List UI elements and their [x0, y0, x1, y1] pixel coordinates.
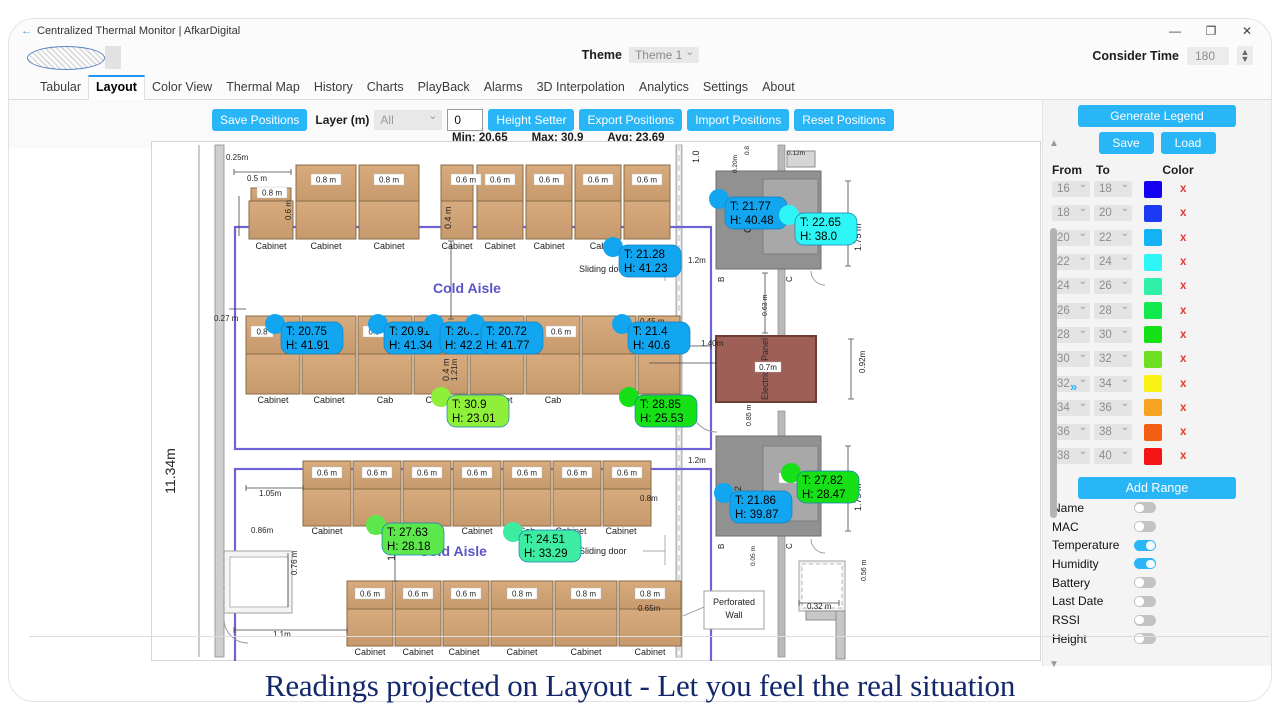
sensor-humidity: H: 39.87: [735, 509, 778, 521]
cold-aisle-label-top: Cold Aisle: [433, 280, 501, 296]
range-remove-button[interactable]: x: [1180, 329, 1186, 341]
close-button[interactable]: ✕: [1229, 19, 1265, 43]
range-color-swatch[interactable]: [1144, 351, 1162, 368]
layer-select[interactable]: All: [374, 110, 442, 130]
svg-text:1.40m: 1.40m: [701, 339, 724, 348]
field-toggle-label: Temperature: [1052, 538, 1134, 552]
sensor-temperature: T: 27.82: [802, 475, 843, 487]
range-to-select[interactable]: 26: [1094, 278, 1132, 294]
legend-range-row: 3032x: [1043, 347, 1271, 371]
range-color-swatch[interactable]: [1144, 278, 1162, 295]
sensor-temperature: T: 20.75: [286, 326, 327, 338]
range-remove-button[interactable]: x: [1180, 232, 1186, 244]
range-to-select[interactable]: 34: [1094, 376, 1132, 392]
range-to-select[interactable]: 24: [1094, 254, 1132, 270]
svg-text:Cabinet: Cabinet: [354, 647, 386, 657]
sensor-humidity: H: 33.29: [524, 548, 567, 560]
legend-range-row: 3436x: [1043, 396, 1271, 420]
theme-select[interactable]: Theme 1: [629, 47, 698, 63]
field-toggle-row: MAC: [1043, 517, 1271, 536]
generate-legend-button[interactable]: Generate Legend: [1078, 105, 1236, 127]
sensor-humidity: H: 41.91: [286, 340, 329, 352]
svg-text:Cabinet: Cabinet: [461, 526, 493, 536]
svg-text:0.25m: 0.25m: [226, 153, 249, 162]
svg-text:0.65m: 0.65m: [638, 604, 661, 613]
svg-text:Wall: Wall: [725, 610, 742, 620]
svg-text:0.6 m: 0.6 m: [317, 469, 337, 478]
legend-range-row: 2022x: [1043, 226, 1271, 250]
logo-placeholder-box: [105, 46, 121, 69]
range-remove-button[interactable]: x: [1180, 353, 1186, 365]
caption-text: Readings projected on Layout - Let you f…: [0, 668, 1280, 704]
legend-range-row: 2628x: [1043, 298, 1271, 322]
sensor-temperature: T: 21.4: [633, 326, 668, 338]
header-from: From: [1052, 163, 1096, 177]
range-color-swatch[interactable]: [1144, 302, 1162, 319]
svg-text:Cabinet: Cabinet: [506, 647, 538, 657]
field-toggle-label: RSSI: [1052, 613, 1134, 627]
svg-text:Cabinet: Cabinet: [311, 526, 343, 536]
consider-time-input[interactable]: 180: [1187, 47, 1229, 65]
consider-time-label: Consider Time: [1092, 49, 1179, 63]
svg-text:Cabinet: Cabinet: [533, 241, 565, 251]
sensor-humidity: H: 40.6: [633, 340, 670, 352]
legend-range-row: 3840x: [1043, 444, 1271, 468]
range-color-swatch[interactable]: [1144, 326, 1162, 343]
field-toggle-row: Humidity: [1043, 555, 1271, 574]
legend-range-row: 1820x: [1043, 201, 1271, 225]
svg-text:0.6 m: 0.6 m: [517, 469, 537, 478]
caption-divider: [29, 636, 1269, 637]
svg-text:Cab: Cab: [377, 395, 394, 405]
tab-tabular[interactable]: Tabular: [33, 77, 88, 99]
sensor-humidity: H: 42.2: [445, 340, 482, 352]
legend-load-button[interactable]: Load: [1161, 132, 1216, 154]
brand-bar: Theme Theme 1 Consider Time 180 ▲▼: [9, 43, 1271, 73]
svg-text:Cabinet: Cabinet: [313, 395, 345, 405]
field-toggle-switch[interactable]: [1134, 558, 1156, 569]
tab-about[interactable]: About: [755, 77, 802, 99]
range-color-swatch[interactable]: [1144, 448, 1162, 465]
svg-text:Cabinet: Cabinet: [605, 526, 637, 536]
sensor-humidity: H: 28.18: [387, 541, 430, 553]
sensor-humidity: H: 28.47: [802, 489, 845, 501]
tab-thermal-map[interactable]: Thermal Map: [219, 77, 307, 99]
legend-range-row: 3638x: [1043, 420, 1271, 444]
range-remove-button[interactable]: x: [1180, 378, 1186, 390]
field-toggle-row: Last Date: [1043, 592, 1271, 611]
field-toggle-label: MAC: [1052, 520, 1134, 534]
tab-history[interactable]: History: [307, 77, 360, 99]
consider-time-control: Consider Time 180 ▲▼: [1092, 46, 1253, 65]
minimize-button[interactable]: —: [1157, 19, 1193, 43]
svg-text:0.8 m: 0.8 m: [316, 176, 336, 185]
range-to-select[interactable]: 32: [1094, 351, 1132, 367]
field-toggle-switch[interactable]: [1134, 502, 1156, 513]
tab-layout[interactable]: Layout: [88, 75, 145, 100]
sensor-humidity: H: 25.53: [640, 413, 683, 425]
svg-text:0.6 m: 0.6 m: [360, 590, 380, 599]
svg-text:0.6 m: 0.6 m: [617, 469, 637, 478]
svg-text:0.12m: 0.12m: [787, 150, 805, 157]
height-setter-button[interactable]: Height Setter: [488, 109, 574, 131]
range-remove-button[interactable]: x: [1180, 207, 1186, 219]
canvas-vertical-scrollbar[interactable]: ▲ ▼: [1049, 144, 1058, 662]
svg-text:0.6 m: 0.6 m: [539, 176, 559, 185]
add-range-button[interactable]: Add Range: [1078, 477, 1236, 499]
svg-text:0.85 m: 0.85 m: [746, 404, 753, 426]
sensor-temperature: T: 22.65: [800, 217, 841, 229]
window-controls: — ❐ ✕: [1157, 19, 1265, 43]
range-color-swatch[interactable]: [1144, 181, 1162, 198]
range-to-select[interactable]: 30: [1094, 327, 1132, 343]
svg-text:Cabinet: Cabinet: [441, 241, 473, 251]
sensor-humidity: H: 23.01: [452, 413, 495, 425]
field-toggle-row: Name: [1043, 499, 1271, 518]
sensor-temperature: T: 20.91: [389, 326, 430, 338]
field-toggle-switch[interactable]: [1134, 540, 1156, 551]
svg-text:1.0: 1.0: [691, 150, 701, 163]
svg-text:0.63 m: 0.63 m: [762, 294, 769, 316]
svg-text:C: C: [785, 543, 794, 549]
app-logo: [27, 46, 105, 70]
tab-analytics[interactable]: Analytics: [632, 77, 696, 99]
svg-text:1.1m: 1.1m: [273, 630, 291, 639]
sensor-temperature: T: 28.85: [640, 399, 681, 411]
consider-time-stepper[interactable]: ▲▼: [1237, 46, 1253, 65]
field-toggle-label: Last Date: [1052, 594, 1134, 608]
range-to-select[interactable]: 36: [1094, 400, 1132, 416]
svg-text:0.8 m: 0.8 m: [576, 590, 596, 599]
field-toggle-switch[interactable]: [1134, 521, 1156, 532]
svg-text:0.6 m: 0.6 m: [367, 469, 387, 478]
svg-text:B: B: [717, 277, 726, 282]
field-toggle-row: RSSI: [1043, 611, 1271, 630]
svg-text:0.8 m: 0.8 m: [640, 590, 660, 599]
svg-text:1.21m: 1.21m: [450, 358, 459, 381]
svg-text:1.2m: 1.2m: [688, 456, 706, 465]
tab-settings[interactable]: Settings: [696, 77, 755, 99]
sensor-temperature: T: 21.77: [730, 201, 771, 213]
svg-text:0.6 m: 0.6 m: [456, 590, 476, 599]
svg-text:0.76 m: 0.76 m: [290, 550, 299, 575]
svg-text:Cabinet: Cabinet: [448, 647, 480, 657]
field-toggle-label: Humidity: [1052, 557, 1134, 571]
svg-text:0.27 m: 0.27 m: [214, 314, 239, 323]
svg-text:Cabinet: Cabinet: [634, 647, 666, 657]
range-color-swatch[interactable]: [1144, 399, 1162, 416]
svg-text:0.6 m: 0.6 m: [467, 469, 487, 478]
range-to-select[interactable]: 28: [1094, 303, 1132, 319]
field-toggle-list: NameMACTemperatureHumidityBatteryLast Da…: [1043, 499, 1271, 649]
sensor-humidity: H: 41.23: [624, 263, 667, 275]
layer-label: Layer (m): [315, 113, 369, 127]
svg-text:0.8 m: 0.8 m: [512, 590, 532, 599]
range-remove-button[interactable]: x: [1180, 450, 1186, 462]
range-color-swatch[interactable]: [1144, 424, 1162, 441]
theme-control: Theme Theme 1: [582, 47, 699, 63]
svg-text:0.6 m: 0.6 m: [567, 469, 587, 478]
legend-table-header: From To Color: [1043, 163, 1271, 177]
svg-text:0.4 m: 0.4 m: [443, 206, 453, 229]
range-remove-button[interactable]: x: [1180, 256, 1186, 268]
svg-text:0.56 m: 0.56 m: [861, 559, 868, 581]
back-arrow-icon[interactable]: ←: [21, 26, 31, 37]
svg-text:0.6 m: 0.6 m: [456, 176, 476, 185]
field-toggle-switch[interactable]: [1134, 577, 1156, 588]
range-color-swatch[interactable]: [1144, 205, 1162, 222]
range-remove-button[interactable]: x: [1180, 402, 1186, 414]
svg-text:Perforated: Perforated: [713, 597, 755, 607]
field-toggle-row: Battery: [1043, 573, 1271, 592]
svg-text:0.6 m: 0.6 m: [637, 176, 657, 185]
svg-text:Cabinet: Cabinet: [310, 241, 342, 251]
legend-range-row: 2224x: [1043, 250, 1271, 274]
svg-text:0.6 m: 0.6 m: [588, 176, 608, 185]
export-positions-button[interactable]: Export Positions: [579, 109, 682, 131]
svg-text:0.6 m: 0.6 m: [408, 590, 428, 599]
tab-3d-interpolation[interactable]: 3D Interpolation: [530, 77, 632, 99]
tab-color-view[interactable]: Color View: [145, 77, 219, 99]
svg-text:0.20m: 0.20m: [732, 155, 739, 173]
app-window: ← Centralized Thermal Monitor | AfkarDig…: [8, 18, 1272, 702]
range-to-select[interactable]: 40: [1094, 448, 1132, 464]
svg-text:1.05m: 1.05m: [259, 489, 282, 498]
svg-text:0.6 m: 0.6 m: [417, 469, 437, 478]
title-bar: ← Centralized Thermal Monitor | AfkarDig…: [9, 19, 1271, 43]
legend-range-row: 2830x: [1043, 323, 1271, 347]
legend-range-row: 1618x: [1043, 177, 1271, 201]
field-toggle-row: Temperature: [1043, 536, 1271, 555]
svg-text:0.6 m: 0.6 m: [551, 328, 571, 337]
svg-text:Cabinet: Cabinet: [255, 241, 287, 251]
range-color-swatch[interactable]: [1144, 375, 1162, 392]
field-toggle-row: Height: [1043, 629, 1271, 648]
sensor-temperature: T: 27.63: [387, 527, 428, 539]
field-toggle-label: Height: [1052, 632, 1134, 646]
sensor-temperature: T: 20.72: [486, 326, 527, 338]
range-color-swatch[interactable]: [1144, 229, 1162, 246]
svg-text:Sliding door: Sliding door: [579, 546, 627, 556]
window-title: Centralized Thermal Monitor | AfkarDigit…: [37, 25, 240, 37]
maximize-button[interactable]: ❐: [1193, 19, 1229, 43]
sensor-temperature: T: 21.86: [735, 495, 776, 507]
layer-height-input[interactable]: 0: [447, 109, 483, 131]
legend-save-button[interactable]: Save: [1099, 132, 1154, 154]
tab-playback[interactable]: PlayBack: [411, 77, 477, 99]
field-toggle-switch[interactable]: [1134, 633, 1156, 644]
svg-text:0.8: 0.8: [744, 146, 751, 155]
field-toggle-label: Name: [1052, 501, 1134, 515]
svg-text:0.92m: 0.92m: [858, 350, 867, 373]
header-to: To: [1096, 163, 1148, 177]
svg-text:1.2m: 1.2m: [688, 256, 706, 265]
range-to-select[interactable]: 22: [1094, 230, 1132, 246]
svg-text:0.7m: 0.7m: [759, 363, 777, 372]
svg-text:Cabinet: Cabinet: [484, 241, 516, 251]
field-toggle-switch[interactable]: [1134, 596, 1156, 607]
range-color-swatch[interactable]: [1144, 254, 1162, 271]
svg-text:0.6 m: 0.6 m: [284, 200, 293, 220]
svg-text:B: B: [717, 544, 726, 549]
svg-text:C: C: [785, 276, 794, 282]
svg-text:0.86m: 0.86m: [251, 526, 274, 535]
range-remove-button[interactable]: x: [1180, 426, 1186, 438]
floorplan-svg: 0.8 m 0.8 m 0.8 m 0.6 m 0.6 m 0.6 m 0.6 …: [151, 141, 1041, 661]
main-tabs: TabularLayoutColor ViewThermal MapHistor…: [9, 73, 1271, 100]
save-positions-button[interactable]: Save Positions: [212, 109, 307, 131]
svg-text:0.8 m: 0.8 m: [379, 176, 399, 185]
range-to-select[interactable]: 18: [1094, 181, 1132, 197]
svg-text:Cab: Cab: [545, 395, 562, 405]
sensor-humidity: H: 38.0: [800, 231, 837, 243]
sensor-humidity: H: 41.77: [486, 340, 529, 352]
tab-alarms[interactable]: Alarms: [477, 77, 530, 99]
svg-text:Cabinet: Cabinet: [373, 241, 405, 251]
range-to-select[interactable]: 38: [1094, 424, 1132, 440]
svg-text:0.8 m: 0.8 m: [262, 189, 282, 198]
electrical-panel: Electrical Panel 0.7m: [716, 336, 816, 402]
svg-text:0.5 m: 0.5 m: [247, 174, 267, 183]
sensor-humidity: H: 40.48: [730, 215, 773, 227]
range-remove-button[interactable]: x: [1180, 280, 1186, 292]
range-remove-button[interactable]: x: [1180, 183, 1186, 195]
room-height-label: 11.34m: [162, 448, 178, 494]
scrollbar-thumb[interactable]: [1050, 228, 1057, 518]
legend-range-row: 2426x: [1043, 274, 1271, 298]
header-color: Color: [1148, 163, 1208, 177]
svg-text:Cabinet: Cabinet: [570, 647, 602, 657]
svg-text:0.8m: 0.8m: [640, 494, 658, 503]
reset-positions-button[interactable]: Reset Positions: [794, 109, 893, 131]
svg-text:Cabinet: Cabinet: [402, 647, 434, 657]
sensor-temperature: T: 21.28: [624, 249, 665, 261]
range-remove-button[interactable]: x: [1180, 305, 1186, 317]
range-to-select[interactable]: 20: [1094, 205, 1132, 221]
field-toggle-switch[interactable]: [1134, 615, 1156, 626]
sensor-temperature: T: 24.51: [524, 534, 565, 546]
sensor-temperature: T: 30.9: [452, 399, 487, 411]
svg-text:Cabinet: Cabinet: [257, 395, 289, 405]
panel-expander-icon[interactable]: »: [1070, 379, 1077, 394]
field-toggle-label: Battery: [1052, 576, 1134, 590]
scroll-up-icon[interactable]: ▲: [1049, 138, 1058, 149]
layout-canvas[interactable]: 0.8 m 0.8 m 0.8 m 0.6 m 0.6 m 0.6 m 0.6 …: [151, 141, 1041, 661]
legend-range-list: 1618x1820x2022x2224x2426x2628x2830x3032x…: [1043, 177, 1271, 469]
theme-label: Theme: [582, 48, 622, 62]
tab-charts[interactable]: Charts: [360, 77, 411, 99]
sensor-humidity: H: 41.34: [389, 340, 433, 352]
svg-text:0.05 m: 0.05 m: [750, 546, 757, 566]
import-positions-button[interactable]: Import Positions: [687, 109, 789, 131]
svg-text:0.6 m: 0.6 m: [490, 176, 510, 185]
